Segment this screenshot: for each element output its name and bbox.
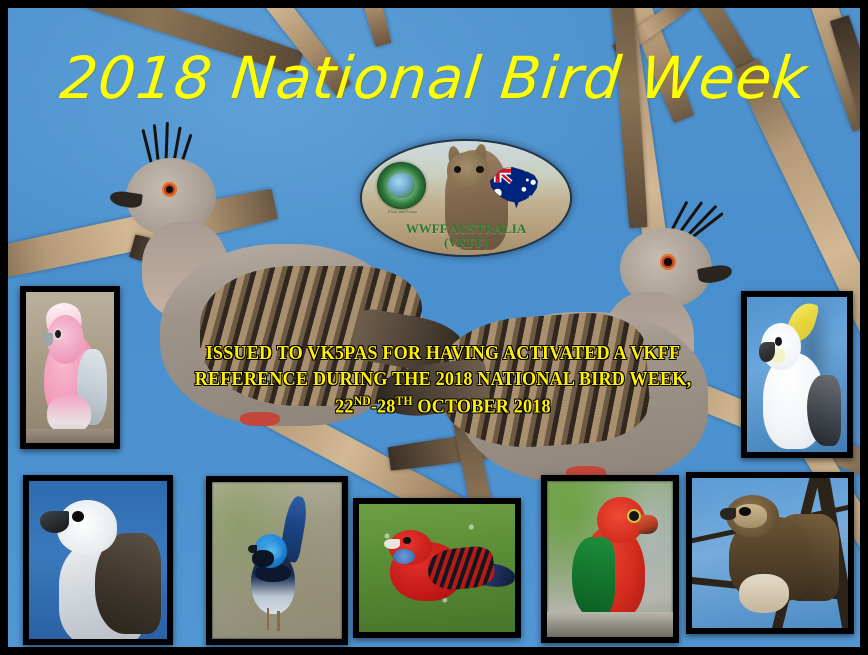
photo-frame-galah [20, 286, 120, 449]
sea-eagle-beak [40, 511, 69, 533]
rosella-beak [384, 539, 400, 549]
citation-day-start-ordinal: ND [354, 394, 371, 408]
galah-belly [47, 395, 91, 434]
galah-perch [26, 429, 114, 443]
photo-frame-brown-falcon [686, 472, 854, 634]
branch-top-mid [344, 8, 392, 47]
branch-top-left [8, 8, 304, 76]
fairywren-leg [277, 611, 280, 631]
king-parrot-beak [638, 515, 658, 534]
sea-eagle-photo [29, 481, 167, 639]
wwff-australia-logo: Flora and Fauna [360, 139, 572, 257]
rosella-photo [359, 504, 515, 632]
photo-frame-rosella [353, 498, 521, 638]
citation-line-2: REFERENCE DURING THE 2018 NATIONAL BIRD … [178, 367, 708, 393]
citation-day-end: -28 [371, 397, 396, 418]
fairywren-leg [267, 608, 270, 630]
cockatoo-wing [807, 375, 841, 446]
brown-falcon-beak [720, 508, 736, 520]
fairywren-photo [212, 482, 342, 639]
galah-photo [26, 292, 114, 443]
fairywren-beak [248, 545, 257, 553]
pigeon-beak [109, 190, 143, 209]
certificate-citation-text: ISSUED TO VK5PAS FOR HAVING ACTIVATED A … [178, 341, 708, 421]
photo-frame-sea-eagle [23, 475, 173, 645]
brown-falcon-photo [692, 478, 848, 628]
australia-flag-map-icon [478, 159, 549, 211]
king-parrot-wing [572, 537, 615, 618]
rosella-eye [403, 537, 412, 543]
citation-line-1: ISSUED TO VK5PAS FOR HAVING ACTIVATED A … [178, 341, 708, 367]
citation-day-start: 22 [335, 397, 354, 418]
brown-falcon-face-patch [733, 504, 767, 528]
cockatoo-photo [747, 297, 847, 452]
brown-falcon-belly [739, 574, 789, 613]
pigeon-eye [162, 182, 177, 197]
citation-month-year: OCTOBER 2018 [413, 397, 551, 418]
wwff-org-line2: (VKFF) [362, 236, 570, 250]
photo-frame-king-parrot [541, 475, 679, 643]
cockatoo-eye [775, 337, 782, 346]
king-parrot-eye [629, 511, 639, 521]
photo-frame-fairywren [206, 476, 348, 645]
galah-beak [43, 333, 54, 347]
wwff-org-line1: WWFF AUSTRALIA [406, 221, 527, 236]
citation-day-end-ordinal: TH [396, 394, 413, 408]
king-parrot-photo [547, 481, 673, 637]
kangaroo-eye [454, 166, 461, 173]
certificate-background: Flora and Fauna [8, 8, 860, 647]
certificate: Flora and Fauna [0, 0, 868, 655]
badge-motto-text: Flora and Fauna [368, 209, 437, 214]
wwff-organisation-text: WWFF AUSTRALIA (VKFF) [362, 222, 570, 250]
citation-line-3: 22ND-28TH OCTOBER 2018 [178, 393, 708, 421]
photo-frame-cockatoo [741, 291, 853, 458]
king-parrot-perch [547, 612, 673, 637]
pigeon-eye [660, 254, 676, 270]
